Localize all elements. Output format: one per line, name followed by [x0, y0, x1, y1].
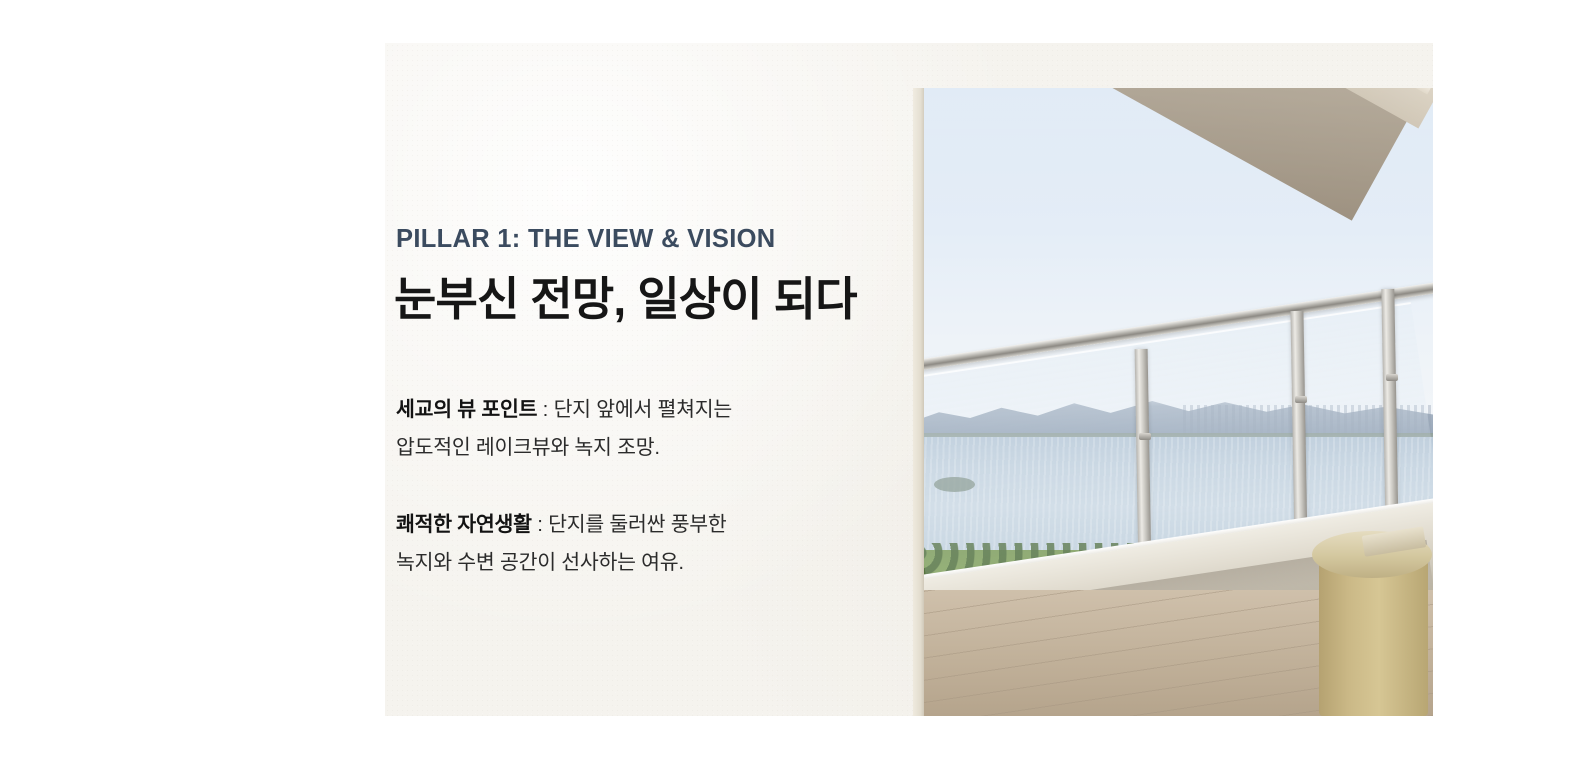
balcony-lake-view-photo: [913, 88, 1433, 716]
slide-headline: 눈부신 전망, 일상이 되다: [394, 263, 857, 329]
glass-clamp: [1386, 374, 1398, 381]
pillar-slide-card: PILLAR 1: THE VIEW & VISION 눈부신 전망, 일상이 …: [385, 43, 1433, 716]
feature-separator: :: [537, 398, 553, 421]
feature-text-second-line: 녹지와 수변 공간이 선사하는 여유.: [396, 544, 866, 582]
feature-block-nature-life: 쾌적한 자연생활 : 단지를 둘러싼 풍부한 녹지와 수변 공간이 선사하는 여…: [396, 506, 866, 582]
feature-text-second-line: 압도적인 레이크뷰와 녹지 조망.: [396, 429, 866, 467]
feature-line-1: 세교의 뷰 포인트 : 단지 앞에서 펼쳐지는: [396, 391, 866, 429]
slide-text-column: PILLAR 1: THE VIEW & VISION 눈부신 전망, 일상이 …: [396, 43, 916, 716]
slide-stage: PILLAR 1: THE VIEW & VISION 눈부신 전망, 일상이 …: [0, 0, 1587, 773]
feature-label: 세교의 뷰 포인트: [396, 398, 537, 421]
round-side-table: [1319, 559, 1428, 716]
feature-separator: :: [532, 513, 548, 536]
feature-block-view-point: 세교의 뷰 포인트 : 단지 앞에서 펼쳐지는 압도적인 레이크뷰와 녹지 조망…: [396, 391, 866, 467]
glass-clamp: [1139, 433, 1151, 440]
feature-line-1: 쾌적한 자연생활 : 단지를 둘러싼 풍부한: [396, 506, 866, 544]
balcony-left-wall: [913, 88, 924, 716]
feature-label: 쾌적한 자연생활: [396, 513, 532, 536]
glass-clamp: [1295, 396, 1307, 403]
feature-text-first-line: 단지를 둘러싼 풍부한: [548, 513, 726, 536]
feature-text-first-line: 단지 앞에서 펼쳐지는: [554, 398, 732, 421]
slide-eyebrow: PILLAR 1: THE VIEW & VISION: [396, 225, 775, 254]
